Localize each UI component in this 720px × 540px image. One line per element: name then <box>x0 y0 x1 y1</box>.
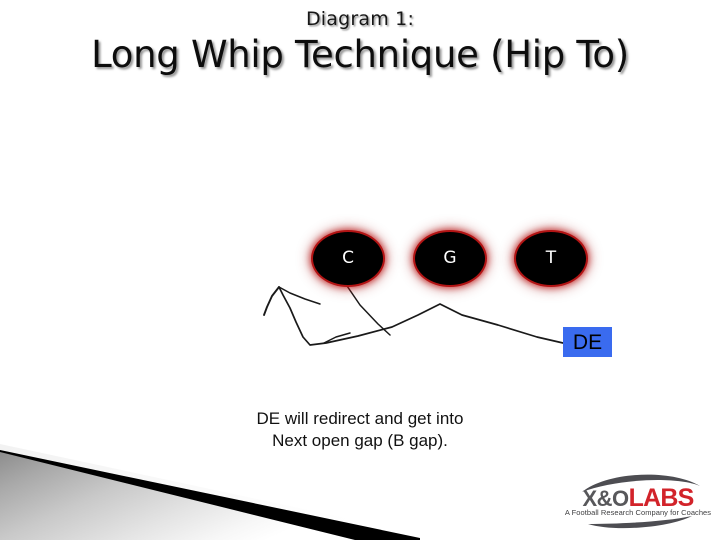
page-title: Long Whip Technique (Hip To) <box>0 33 720 76</box>
player-circle-tackle[interactable]: T <box>516 232 586 285</box>
bottom-left-gradient-wedge <box>0 430 420 540</box>
slide-canvas: Diagram 1: Long Whip Technique (Hip To) … <box>0 0 720 540</box>
arrowhead-left-barb <box>264 287 279 315</box>
defender-box-de[interactable]: DE <box>563 327 612 357</box>
player-label-t: T <box>546 250 556 267</box>
path-tail-hook <box>324 333 350 343</box>
caption-line-1: DE will redirect and get into <box>0 408 720 430</box>
center-block-line <box>345 283 390 335</box>
player-circle-guard[interactable]: G <box>415 232 485 285</box>
arrowhead-right-barb <box>279 287 320 304</box>
defender-label-de: DE <box>573 332 602 353</box>
xo-labs-logo[interactable]: X&OLABS A Football Research Company for … <box>560 472 716 530</box>
logo-tagline: A Football Research Company for Coaches <box>560 508 716 517</box>
diagram-subtitle: Diagram 1: <box>0 8 720 30</box>
player-label-c: C <box>342 250 354 267</box>
de-movement-path <box>279 287 563 345</box>
player-circle-center[interactable]: C <box>313 232 383 285</box>
logo-swoosh-bottom-icon <box>588 516 692 528</box>
player-label-g: G <box>443 250 456 267</box>
